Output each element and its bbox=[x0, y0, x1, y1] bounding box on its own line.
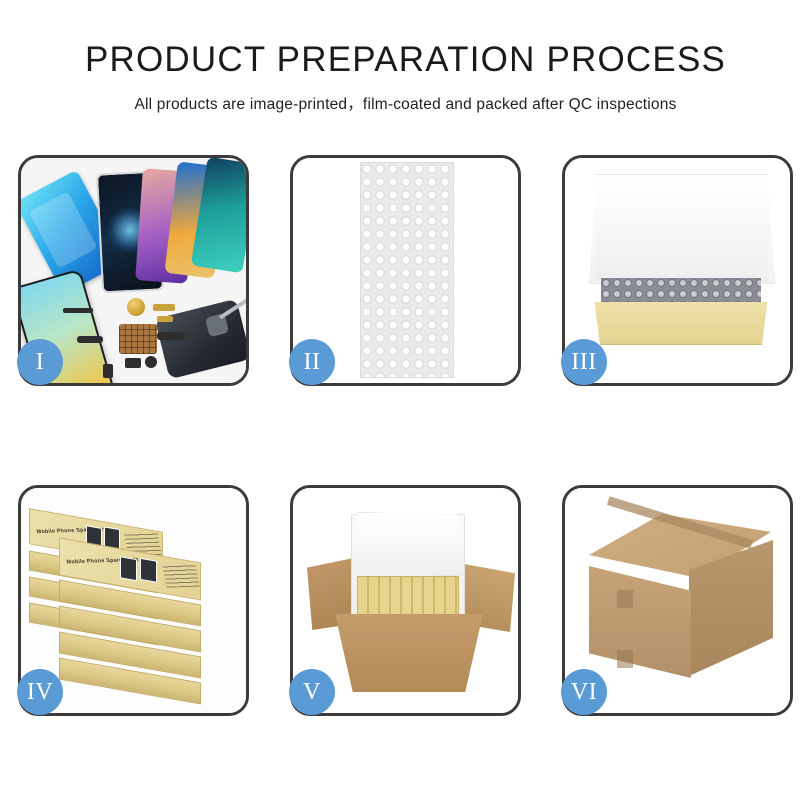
earpiece-part bbox=[63, 308, 93, 313]
white-foam-sheet bbox=[595, 206, 767, 282]
carton-body bbox=[335, 614, 483, 692]
process-step-1[interactable]: I bbox=[18, 155, 249, 386]
flex-cable-part bbox=[77, 336, 103, 343]
volume-flex-part bbox=[157, 332, 185, 340]
process-step-2[interactable]: II bbox=[290, 155, 521, 386]
gold-connector bbox=[157, 316, 173, 322]
speaker-part bbox=[145, 356, 157, 368]
carton-front-face bbox=[589, 566, 691, 678]
box-lid-phone-image-3 bbox=[120, 556, 137, 581]
foam-box-lid bbox=[351, 512, 465, 576]
step-badge-6: VI bbox=[561, 669, 607, 715]
step-badge-5: V bbox=[289, 669, 335, 715]
yellow-box-base bbox=[591, 302, 771, 345]
gold-flex-cable bbox=[153, 304, 175, 311]
process-step-grid: I II III bbox=[18, 155, 793, 716]
process-step-4[interactable]: Mobile Phone Spare Parts Mobile Phone Sp… bbox=[18, 485, 249, 716]
header: PRODUCT PREPARATION PROCESS All products… bbox=[0, 0, 811, 114]
step-badge-2: II bbox=[289, 339, 335, 385]
process-step-3[interactable]: III bbox=[562, 155, 793, 386]
bubble-wrap-layer bbox=[360, 162, 454, 378]
screw-grid bbox=[119, 324, 157, 354]
process-step-6[interactable]: VI bbox=[562, 485, 793, 716]
gold-coin-part bbox=[127, 298, 145, 316]
step-badge-4: IV bbox=[17, 669, 63, 715]
process-step-5[interactable]: V bbox=[290, 485, 521, 716]
page-title: PRODUCT PREPARATION PROCESS bbox=[0, 42, 811, 77]
step-badge-3: III bbox=[561, 339, 607, 385]
bubble-wrap-contents bbox=[601, 278, 761, 306]
carton-label-lower bbox=[617, 650, 633, 668]
camera-module-part bbox=[125, 358, 141, 368]
box-lid-spec-lines-2 bbox=[162, 564, 200, 588]
product-preparation-process-page: PRODUCT PREPARATION PROCESS All products… bbox=[0, 0, 811, 811]
carton-label-upper bbox=[617, 590, 633, 608]
page-subtitle: All products are image-printed，film-coat… bbox=[0, 92, 811, 114]
box-lid-phone-image-4 bbox=[140, 558, 157, 583]
step-badge-1: I bbox=[17, 339, 63, 385]
sim-tray-part bbox=[103, 364, 113, 378]
